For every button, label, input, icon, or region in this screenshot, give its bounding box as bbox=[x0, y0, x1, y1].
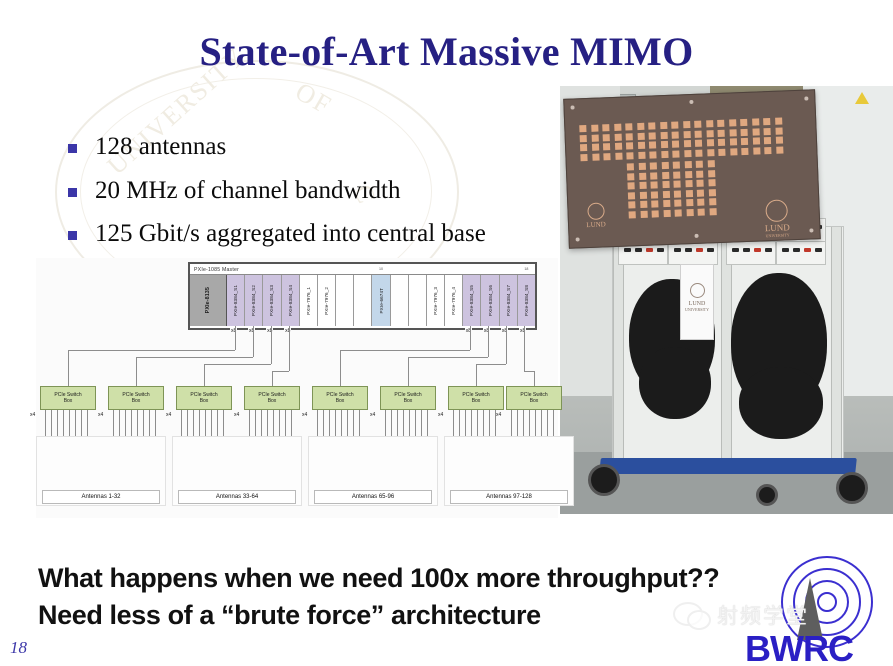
antenna-group-label: Antennas 97-128 bbox=[450, 490, 568, 504]
chassis-slot-pxie-7976-3: PXIe-7976_3 bbox=[427, 275, 445, 326]
slot-label: PXIe-8384_S7 bbox=[506, 285, 511, 316]
switch-box-label: Box bbox=[313, 398, 367, 404]
link-width-label-x8: x8 bbox=[284, 328, 291, 334]
chassis-slot-pxie-8384-s3: PXIe-8384_S3 bbox=[263, 275, 281, 326]
link-width-label-x4: x4 bbox=[234, 412, 239, 418]
chassis-slot-pxie-7976-1: PXIe-7976_1 bbox=[300, 275, 318, 326]
switch-box-label: Box bbox=[41, 398, 95, 404]
cable-bundle bbox=[739, 367, 823, 439]
cart-caster bbox=[836, 472, 868, 504]
switch-box-label: Box bbox=[507, 398, 561, 404]
page-title: State-of-Art Massive MIMO bbox=[0, 28, 893, 75]
bullet-text: 125 Gbit/s aggregated into central base bbox=[95, 219, 486, 249]
link-width-label-x4: x4 bbox=[30, 412, 35, 418]
antenna-panel: LUND LUND UNIVERSITY bbox=[563, 89, 821, 249]
closing-statement: What happens when we need 100x more thro… bbox=[38, 560, 738, 635]
slot-label: PXIe-8384_S5 bbox=[469, 285, 474, 316]
pcie-switch-box: PCIe SwitchBox bbox=[244, 386, 300, 410]
slot-label: PXIe-8384_S1 bbox=[233, 285, 238, 316]
antenna-group-label: Antennas 33-64 bbox=[178, 490, 296, 504]
pcie-switch-box: PCIe SwitchBox bbox=[506, 386, 562, 410]
bullet-square-icon bbox=[68, 144, 77, 153]
slot-number: 10 bbox=[379, 267, 383, 271]
slot-label: PXIe-7976_2 bbox=[324, 287, 329, 315]
chassis-slot-pxie-8384-s5: PXIe-8384_S5 bbox=[463, 275, 481, 326]
chassis-slot-pxie-6674t: PXIe-6674T10 bbox=[372, 275, 390, 326]
slide: UNIVERSITY OF C State-of-Art Massive MIM… bbox=[0, 0, 893, 666]
usrp-shelf bbox=[776, 241, 826, 265]
slot-label: PXIe-8384_S4 bbox=[288, 285, 293, 316]
chassis-slot-pxie-8384-s1: PXIe-8384_S1 bbox=[227, 275, 245, 326]
bullet-square-icon bbox=[68, 188, 77, 197]
slot-label: PXIe-8384_S3 bbox=[269, 285, 274, 316]
equipment-cart bbox=[599, 458, 857, 474]
pcie-switch-box: PCIe SwitchBox bbox=[176, 386, 232, 410]
bwrc-wordmark: BWRC bbox=[745, 628, 853, 666]
slot-label: PXIe-7976_1 bbox=[306, 287, 311, 315]
pcie-switch-box: PCIe SwitchBox bbox=[108, 386, 164, 410]
chassis-slot-pxie-8384-s6: PXIe-8384_S6 bbox=[481, 275, 499, 326]
link-width-label-x4: x4 bbox=[98, 412, 103, 418]
list-item: 128 antennas bbox=[68, 132, 588, 162]
chassis-slot-row: PXIe-8135PXIe-8384_S1PXIe-8384_S2PXIe-83… bbox=[190, 275, 535, 326]
bullet-text: 128 antennas bbox=[95, 132, 226, 162]
link-width-label-x4: x4 bbox=[496, 412, 501, 418]
chat-bubble-icon bbox=[687, 610, 711, 630]
warning-triangle-icon bbox=[855, 92, 869, 104]
bullet-square-icon bbox=[68, 231, 77, 240]
chassis-slot-empty-8 bbox=[354, 275, 372, 326]
bullet-list: 128 antennas 20 MHz of channel bandwidth… bbox=[68, 132, 588, 263]
slot-label: PXIe-8384_S6 bbox=[488, 285, 493, 316]
pcie-switch-box: PCIe SwitchBox bbox=[380, 386, 436, 410]
link-width-label-x8: x8 bbox=[465, 328, 472, 334]
chassis-slot-pxie-8135: PXIe-8135 bbox=[190, 275, 227, 326]
switch-box-label: Box bbox=[177, 398, 231, 404]
usrp-shelf bbox=[726, 241, 776, 265]
seal-word-2: OF bbox=[290, 77, 337, 122]
switch-box-label: Box bbox=[245, 398, 299, 404]
closing-line-1: What happens when we need 100x more thro… bbox=[38, 560, 738, 597]
link-width-label-x4: x4 bbox=[370, 412, 375, 418]
chassis-label: PXIe-1085 Master bbox=[190, 264, 535, 275]
list-item: 125 Gbit/s aggregated into central base bbox=[68, 219, 588, 249]
chassis-slot-pxie-7976-2: PXIe-7976_2 bbox=[318, 275, 336, 326]
antenna-group-label: Antennas 1-32 bbox=[42, 490, 160, 504]
page-number: 18 bbox=[10, 638, 27, 658]
link-width-label-x8: x8 bbox=[501, 328, 508, 334]
link-width-label-x8: x8 bbox=[266, 328, 273, 334]
massive-mimo-testbed-photo: LUND LUND UNIVERSITY LUND UNIVERSITY bbox=[560, 86, 893, 514]
chassis-slot-pxie-8384-s2: PXIe-8384_S2 bbox=[245, 275, 263, 326]
slot-label: PXIe-8384_S8 bbox=[524, 285, 529, 316]
chassis-slot-pxie-8384-s8: PXIe-8384_S818 bbox=[518, 275, 535, 326]
chassis-slot-empty-7 bbox=[336, 275, 354, 326]
lund-id-tag: LUND UNIVERSITY bbox=[680, 264, 714, 340]
slot-label: PXIe-8135 bbox=[205, 287, 211, 313]
switch-box-label: Box bbox=[381, 398, 435, 404]
cable-bundle bbox=[639, 347, 711, 419]
antenna-group-label: Antennas 65-96 bbox=[314, 490, 432, 504]
lund-logo-left: LUND bbox=[582, 202, 609, 233]
cart-caster bbox=[588, 464, 620, 496]
slot-label: PXIe-7976_3 bbox=[433, 287, 438, 315]
chassis-slot-pxie-8384-s4: PXIe-8384_S4 bbox=[282, 275, 300, 326]
pcie-switch-box: PCIe SwitchBox bbox=[40, 386, 96, 410]
cart-caster bbox=[756, 484, 778, 506]
link-width-label-x4: x4 bbox=[302, 412, 307, 418]
wechat-account-name: 射频学堂 bbox=[717, 600, 809, 630]
pcie-switch-box: PCIe SwitchBox bbox=[312, 386, 368, 410]
slot-label: PXIe-8384_S2 bbox=[251, 285, 256, 316]
link-width-label-x4: x4 bbox=[166, 412, 171, 418]
slot-number: 18 bbox=[524, 267, 528, 271]
slot-label: PXIe-6674T bbox=[379, 288, 384, 314]
bullet-text: 20 MHz of channel bandwidth bbox=[95, 176, 400, 206]
chassis-slot-empty-11 bbox=[409, 275, 427, 326]
chassis-slot-pxie-7976-4: PXIe-7976_4 bbox=[445, 275, 463, 326]
link-width-label-x8: x8 bbox=[519, 328, 526, 334]
pxie-architecture-diagram: PXIe-1085 Master PXIe-8135PXIe-8384_S1PX… bbox=[36, 258, 558, 518]
lund-logo-right: LUND UNIVERSITY bbox=[754, 199, 799, 231]
slot-label: PXIe-7976_4 bbox=[451, 287, 456, 315]
switch-box-label: Box bbox=[109, 398, 163, 404]
pcie-switch-box: PCIe SwitchBox bbox=[448, 386, 504, 410]
link-width-label-x8: x8 bbox=[248, 328, 255, 334]
link-width-label-x8: x8 bbox=[483, 328, 490, 334]
closing-line-2: Need less of a “brute force” architectur… bbox=[38, 597, 738, 634]
switch-box-label: Box bbox=[449, 398, 503, 404]
link-width-label-x4: x4 bbox=[438, 412, 443, 418]
link-width-label-x8: x8 bbox=[230, 328, 237, 334]
list-item: 20 MHz of channel bandwidth bbox=[68, 176, 588, 206]
pxie-chassis: PXIe-1085 Master PXIe-8135PXIe-8384_S1PX… bbox=[188, 262, 537, 330]
chassis-slot-empty-10 bbox=[391, 275, 409, 326]
wechat-watermark: 射频学堂 bbox=[673, 598, 833, 632]
chassis-slot-pxie-8384-s7: PXIe-8384_S7 bbox=[500, 275, 518, 326]
